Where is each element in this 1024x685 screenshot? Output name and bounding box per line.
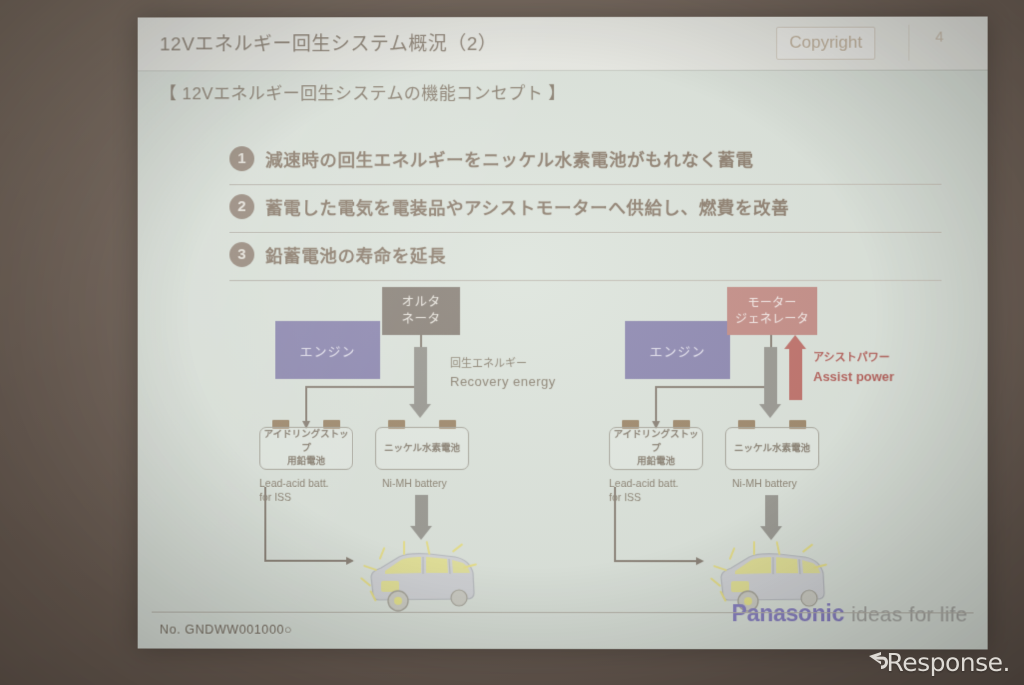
connector-lead-to-vehicle-horizontal: [614, 560, 696, 562]
assist-power-label-en: Assist power: [813, 368, 894, 387]
connector-branch-horizontal: [655, 386, 771, 388]
connector-lead-to-vehicle-vertical: [264, 487, 265, 561]
engine-box: エンジン: [625, 321, 730, 379]
bullet-text: 蓄電した電気を電装品やアシストモーターへ供給し、燃費を改善: [265, 195, 789, 220]
vehicle-svg: [355, 537, 487, 617]
connector-lead-to-vehicle-vertical: [614, 487, 616, 561]
supply-to-vehicle-arrow: [415, 495, 428, 527]
lead-acid-battery-label: アイドリングストップ用鉛電池: [609, 427, 703, 470]
bullet-divider: [229, 184, 941, 185]
lead-acid-battery-label: アイドリングストップ用鉛電池: [259, 427, 353, 470]
lead-acid-battery: アイドリングストップ用鉛電池: [609, 420, 703, 470]
lead-acid-battery-caption: Lead-acid batt.for ISS: [259, 477, 328, 505]
slide-subtitle: 【 12Vエネルギー回生システムの機能コンセプト 】: [160, 79, 566, 104]
supply-to-vehicle-arrow: [765, 495, 778, 527]
vehicle-illustration: [355, 537, 487, 617]
connector-lead-to-vehicle-horizontal: [264, 560, 346, 562]
diagram-conventional-system: エンジン オルタネータ 回生エネルギー Recovery energy アイドリ…: [247, 275, 647, 620]
recovery-energy-label-en: Recovery energy: [450, 373, 556, 392]
document-number: No. GNDWW001000○: [160, 623, 293, 637]
nimh-battery-caption: Ni-MH battery: [732, 477, 797, 491]
bullet-number-badge: 3: [229, 242, 254, 267]
projected-slide: 12Vエネルギー回生システム概況（2） Copyright 4 【 12Vエネル…: [138, 17, 988, 650]
bullet-text: 減速時の回生エネルギーをニッケル水素電池がもれなく蓄電: [265, 147, 753, 172]
concept-bullet-2: 2 蓄電した電気を電装品やアシストモーターへ供給し、燃費を改善: [229, 189, 941, 233]
brand-lockup: Panasonicideas for life: [732, 600, 968, 627]
nimh-battery-caption: Ni-MH battery: [382, 477, 447, 491]
nimh-battery: ニッケル水素電池: [375, 420, 469, 470]
recovery-energy-arrow: [414, 347, 427, 405]
glow-ray: [753, 541, 755, 555]
engine-box: エンジン: [275, 321, 380, 379]
header-divider: [908, 25, 909, 61]
bullet-number-badge: 1: [229, 146, 254, 171]
bullet-divider: [229, 232, 941, 233]
assist-power-arrow: [789, 348, 802, 400]
bullet-number-badge: 2: [229, 194, 254, 219]
assist-power-label-jp: アシストパワー: [813, 351, 890, 367]
charge-arrow: [764, 347, 777, 405]
lead-acid-battery: アイドリングストップ用鉛電池: [259, 420, 353, 470]
concept-bullet-1: 1 減速時の回生エネルギーをニッケル水素電池がもれなく蓄電: [229, 141, 941, 185]
nimh-battery-label: ニッケル水素電池: [725, 427, 819, 470]
lead-acid-battery-caption: Lead-acid batt.for ISS: [609, 477, 679, 505]
connector-to-lead-battery: [305, 386, 306, 422]
nimh-battery: ニッケル水素電池: [725, 420, 819, 470]
watermark-text: Response.: [886, 648, 1010, 677]
page-title: 12Vエネルギー回生システム概況（2）: [160, 29, 498, 56]
glow-ray: [403, 541, 405, 555]
diagram-regeneration-system: エンジン モータージェネレータ アシストパワー Assist power アイド…: [597, 275, 998, 621]
brand-tagline: ideas for life: [851, 603, 967, 626]
response-watermark: Response.: [867, 648, 1010, 677]
motor-generator-box: モータージェネレータ: [727, 287, 817, 335]
nimh-battery-label: ニッケル水素電池: [375, 427, 469, 470]
page-number: 4: [935, 29, 943, 46]
connector-branch-horizontal: [305, 386, 421, 388]
slide-header: 12Vエネルギー回生システム概況（2） Copyright 4: [138, 17, 988, 72]
copyright-badge: Copyright: [776, 27, 875, 60]
bullet-text: 鉛蓄電池の寿命を延長: [265, 243, 446, 268]
recovery-energy-label-jp: 回生エネルギー: [450, 357, 527, 373]
connector-to-lead-battery: [655, 386, 657, 422]
alternator-box: オルタネータ: [382, 287, 460, 335]
